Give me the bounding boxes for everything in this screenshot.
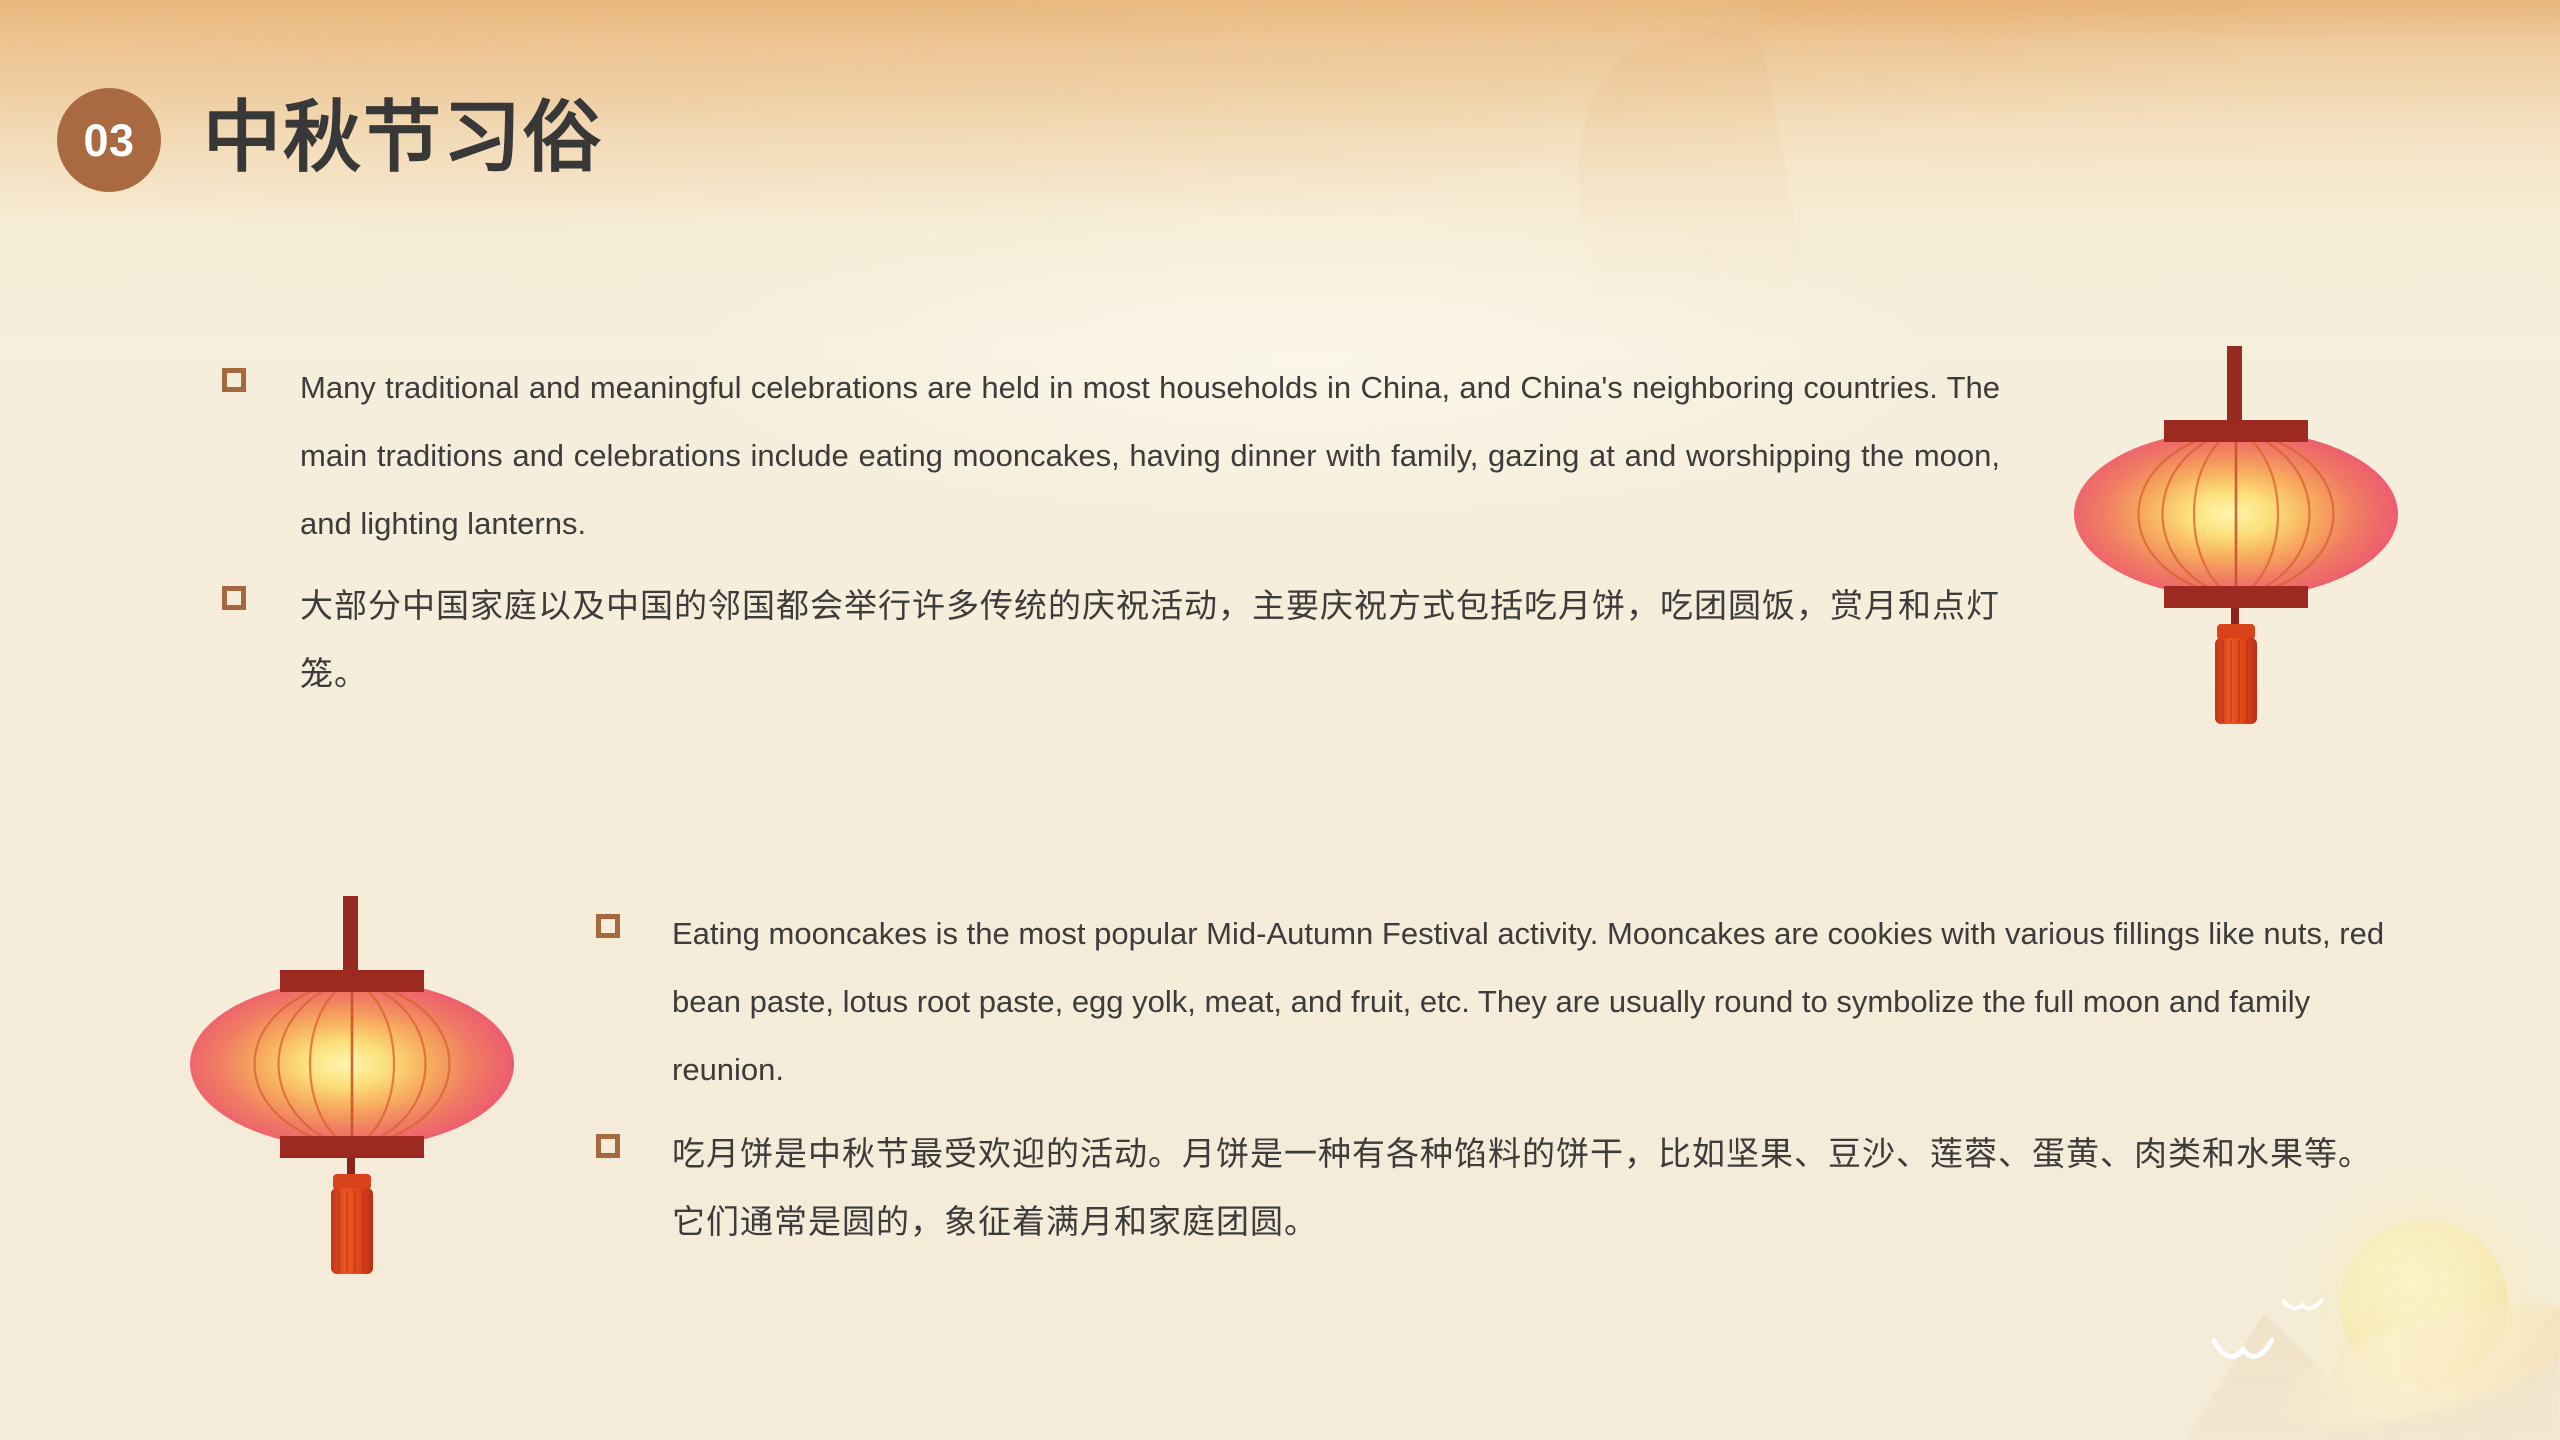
bird-icon-large [2212, 1336, 2274, 1368]
lantern-icon-right [2072, 346, 2402, 726]
bullet-item: Eating mooncakes is the most popular Mid… [596, 900, 2386, 1104]
bullet-item: 大部分中国家庭以及中国的邻国都会举行许多传统的庆祝活动，主要庆祝方式包括吃月饼，… [222, 572, 2000, 708]
bullet-square-icon [222, 368, 246, 392]
bullet-square-icon [222, 586, 246, 610]
bullet-item: Many traditional and meaningful celebrat… [222, 354, 2000, 558]
bullet-square-icon [596, 914, 620, 938]
bullet-text-chinese: 吃月饼是中秋节最受欢迎的活动。月饼是一种有各种馅料的饼干，比如坚果、豆沙、莲蓉、… [596, 1120, 2386, 1256]
bird-icon-small [2282, 1296, 2324, 1318]
content-block-one: Many traditional and meaningful celebrat… [222, 354, 2000, 708]
section-number-badge: 03 [57, 88, 161, 192]
lantern-icon-left [188, 896, 518, 1276]
section-number-label: 03 [83, 118, 134, 163]
page-title: 中秋节习俗 [203, 94, 603, 181]
bullet-text-english: Many traditional and meaningful celebrat… [222, 354, 2000, 558]
bullet-square-icon [596, 1134, 620, 1158]
bullet-text-english: Eating mooncakes is the most popular Mid… [596, 900, 2386, 1104]
bullet-item: 吃月饼是中秋节最受欢迎的活动。月饼是一种有各种馅料的饼干，比如坚果、豆沙、莲蓉、… [596, 1120, 2386, 1256]
bullet-text-chinese: 大部分中国家庭以及中国的邻国都会举行许多传统的庆祝活动，主要庆祝方式包括吃月饼，… [222, 572, 2000, 708]
slide-canvas: 03 中秋节习俗 [0, 0, 2560, 1440]
content-block-two: Eating mooncakes is the most popular Mid… [596, 900, 2386, 1256]
